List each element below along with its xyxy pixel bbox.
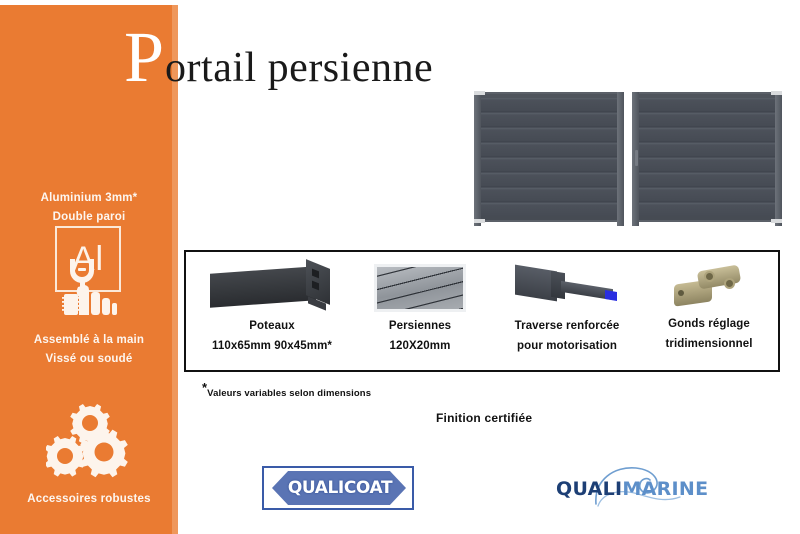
- feature-traverse-caption: Traverse renforcée: [486, 318, 648, 335]
- gate-foot-bl: [474, 219, 485, 223]
- footnote-text: Valeurs variables selon dimensions: [207, 388, 371, 399]
- page-title: Portail persienne: [124, 22, 433, 92]
- gears-icon: [0, 404, 178, 478]
- reinforced-crossbar-motor-icon: [511, 264, 623, 314]
- footnote: *Valeurs variables selon dimensions: [202, 380, 371, 399]
- three-dimensional-hinge-icon: [668, 264, 750, 312]
- feature-persiennes-caption: Persiennes: [344, 318, 496, 335]
- feature-poteaux-detail: 110x65mm 90x45mm*: [186, 338, 358, 355]
- sidebar-item-accessories-label-1: Accessoires robustes: [0, 490, 178, 509]
- gate-louvers-left: [479, 98, 619, 216]
- feature-persiennes: Persiennes 120X20mm: [344, 252, 496, 374]
- features-box: Poteaux 110x65mm 90x45mm* Persiennes 120…: [184, 250, 780, 372]
- feature-gonds-detail: tridimensionnel: [638, 336, 780, 353]
- aluminium-post-profile-icon: [208, 262, 336, 314]
- sidebar-item-aluminium-label-2: Double paroi: [0, 208, 178, 227]
- sidebar-item-accessories: Accessoires robustes: [0, 404, 178, 509]
- gate-handle-icon: [635, 150, 638, 166]
- feature-poteaux: Poteaux 110x65mm 90x45mm*: [186, 252, 358, 374]
- gate-foot-br: [771, 219, 782, 223]
- gate-post-left: [474, 92, 481, 226]
- feature-traverse-detail: pour motorisation: [486, 338, 648, 355]
- gate-louvers-right: [637, 98, 777, 216]
- gate-leaf-left: [474, 92, 624, 222]
- feature-poteaux-caption: Poteaux: [186, 318, 358, 335]
- qualicoat-logo: QUALICOAT: [262, 466, 414, 510]
- gate-mullion-left: [617, 92, 624, 226]
- sidebar-item-aluminium: Al Aluminium 3mm* Double paroi: [0, 113, 178, 227]
- gate-post-right: [775, 92, 782, 226]
- louver-slats-photo-icon: [374, 264, 466, 312]
- feature-gonds: Gonds réglage tridimensionnel: [638, 252, 780, 374]
- gate-leaf-right: [632, 92, 782, 222]
- sidebar-item-assembly-label-2: Vissé ou soudé: [0, 350, 178, 369]
- qualimarine-logo-text: QUALIMARINE: [556, 478, 726, 500]
- gate-cap-tr: [771, 91, 782, 95]
- page-title-initial: P: [124, 22, 164, 92]
- feature-gonds-caption: Gonds réglage: [638, 316, 780, 333]
- gate-cap-tl: [474, 91, 485, 95]
- gate-center-gap: [624, 92, 632, 222]
- hand-with-wrench-icon: [0, 255, 178, 321]
- sidebar-item-assembly: Assemblé à la main Vissé ou soudé: [0, 255, 178, 369]
- sidebar-item-assembly-label-1: Assemblé à la main: [0, 331, 178, 350]
- qualimarine-text-quali: QUALI: [556, 478, 622, 500]
- feature-traverse: Traverse renforcée pour motorisation: [486, 252, 648, 374]
- sidebar-item-aluminium-label-1: Aluminium 3mm*: [0, 189, 178, 208]
- qualicoat-logo-text: QUALICOAT: [264, 468, 416, 508]
- qualimarine-text-marine: MARINE: [622, 478, 708, 500]
- product-gate-image: [474, 92, 782, 222]
- feature-persiennes-detail: 120X20mm: [344, 338, 496, 355]
- slide-root: Al Aluminium 3mm* Double paroi: [0, 0, 800, 534]
- page-title-rest: ortail persienne: [165, 40, 433, 96]
- qualimarine-logo: QUALIMARINE: [556, 470, 726, 510]
- certification-heading: Finition certifiée: [436, 411, 532, 425]
